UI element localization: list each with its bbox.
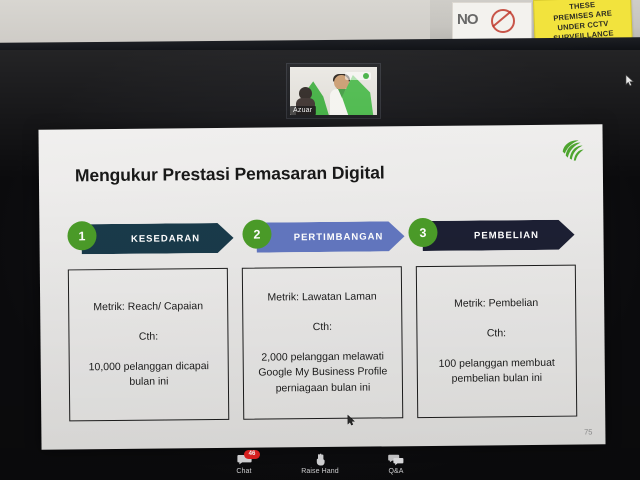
step-3-number: 3: [419, 225, 426, 239]
monitor-screen: Azuar Mengukur Prestasi Pemasaran Digita…: [0, 50, 640, 480]
screen-edge-cursor-icon: [625, 74, 635, 92]
metric-box-3-metric: Metrik: Pembelian: [454, 296, 538, 311]
step-1-chevron: KESEDARAN: [81, 223, 233, 254]
step-3-number-badge: 3: [408, 218, 437, 247]
metric-box-2-metric: Metrik: Lawatan Laman: [267, 290, 376, 305]
chat-unread-badge: 46: [244, 450, 260, 459]
process-steps-row: KESEDARAN 1 PERTIMBANGAN 2: [67, 217, 575, 258]
metric-box-1-cth: Cth:: [139, 330, 158, 342]
step-1-number-badge: 1: [67, 221, 96, 250]
step-2-chevron: PERTIMBANGAN: [256, 221, 404, 252]
metric-box-3-example: 100 pelanggan membuat pembelian bulan in…: [426, 356, 568, 388]
process-step-1: KESEDARAN 1: [67, 220, 242, 258]
step-1-label: KESEDARAN: [115, 233, 200, 245]
slide-title: Mengukur Prestasi Pemasaran Digital: [75, 162, 385, 186]
video-backdrop-logo: [345, 72, 371, 80]
process-step-2: PERTIMBANGAN 2: [242, 218, 408, 256]
metric-box-3-cth: Cth:: [487, 327, 506, 339]
slide-page-number: 75: [584, 427, 592, 436]
toolbar-label-qa: Q&A: [388, 468, 403, 475]
metric-box-1-example: 10,000 pelanggan dicapai bulan ini: [78, 359, 220, 391]
toolbar-button-raise-hand[interactable]: Raise Hand: [294, 453, 346, 475]
green-globe-logo-icon: [559, 138, 585, 161]
toolbar-button-chat[interactable]: 46 Chat: [218, 453, 270, 475]
step-2-number: 2: [253, 227, 260, 241]
step-2-number-badge: 2: [242, 219, 271, 248]
metric-box-3: Metrik: Pembelian Cth: 100 pelanggan mem…: [416, 265, 577, 419]
metric-boxes-row: Metrik: Reach/ Capaian Cth: 10,000 pelan…: [68, 265, 577, 422]
metric-box-2-example: 2,000 pelanggan melawati Google My Busin…: [252, 350, 394, 397]
step-3-chevron: PEMBELIAN: [422, 220, 574, 251]
toolbar-button-qa[interactable]: Q&A: [370, 453, 422, 475]
raise-hand-icon: [312, 453, 329, 466]
photo-scene: NO THESE PREMISES ARE UNDER CCTV SURVEIL…: [0, 0, 640, 480]
step-1-number: 1: [78, 229, 85, 243]
step-2-label: PERTIMBANGAN: [278, 231, 384, 243]
metric-box-2-cth: Cth:: [313, 321, 332, 333]
process-step-3: PEMBELIAN 3: [408, 217, 575, 255]
zoom-toolbar: 46 Chat Raise Hand Q&A: [0, 448, 640, 480]
metric-box-1-metric: Metrik: Reach/ Capaian: [93, 299, 203, 314]
toolbar-label-raise-hand: Raise Hand: [301, 468, 339, 475]
toolbar-label-chat: Chat: [236, 468, 251, 475]
presenter-cursor-icon: [347, 413, 355, 431]
participant-video-tile[interactable]: Azuar: [286, 63, 381, 119]
step-3-label: PEMBELIAN: [458, 229, 539, 241]
no-smoking-sign-text: NO: [457, 11, 478, 28]
participant-name-label: Azuar: [290, 106, 316, 115]
qa-bubbles-icon: [388, 453, 405, 466]
metric-box-1: Metrik: Reach/ Capaian Cth: 10,000 pelan…: [68, 268, 229, 422]
metric-box-2: Metrik: Lawatan Laman Cth: 2,000 pelangg…: [242, 266, 403, 420]
shared-slide: Mengukur Prestasi Pemasaran Digital KESE…: [38, 124, 605, 449]
